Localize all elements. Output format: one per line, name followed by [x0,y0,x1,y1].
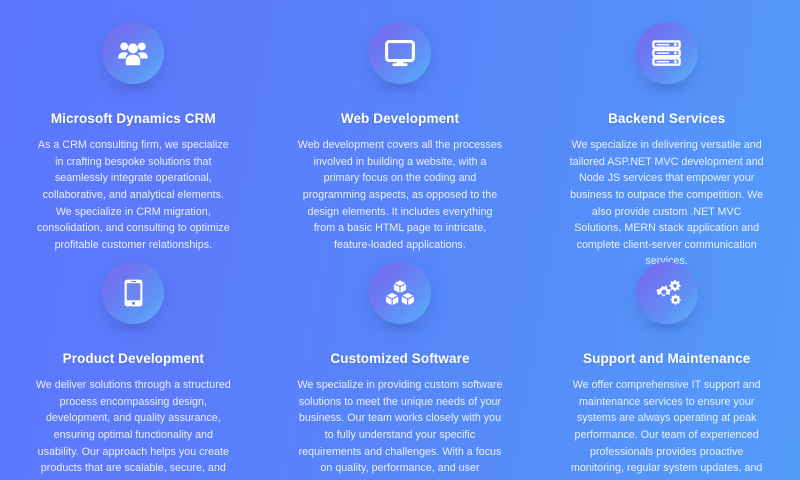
service-description: Web development covers all the processes… [297,137,502,253]
server-rack-icon [652,40,681,66]
service-card-customized-software[interactable]: Customized Software We specialize in pro… [267,240,534,480]
service-icon-badge [369,22,431,84]
service-card-product-development[interactable]: Product Development We deliver solutions… [0,240,267,480]
service-icon-badge [102,262,164,324]
service-description: We offer comprehensive IT support and ma… [569,377,765,480]
users-group-icon [118,40,148,66]
service-title: Backend Services [608,111,725,127]
service-card-backend-services[interactable]: Backend Services We specialize in delive… [533,0,800,240]
service-title: Support and Maintenance [583,351,750,367]
service-title: Microsoft Dynamics CRM [51,111,216,127]
cubes-stack-icon [385,279,415,307]
service-description: We specialize in providing custom softwa… [297,377,502,480]
service-description: We deliver solutions through a structure… [33,377,233,480]
service-title: Product Development [63,351,204,367]
service-icon-badge [369,262,431,324]
service-icon-badge [636,22,698,84]
service-card-microsoft-dynamics-crm[interactable]: Microsoft Dynamics CRM As a CRM consulti… [0,0,267,240]
service-description: As a CRM consulting firm, we specialize … [33,137,233,253]
mobile-phone-icon [124,279,143,307]
service-icon-badge [102,22,164,84]
service-card-web-development[interactable]: Web Development Web development covers a… [267,0,534,240]
gears-cogs-icon [652,279,682,307]
desktop-monitor-icon [385,40,415,67]
service-title: Web Development [341,111,459,127]
service-icon-badge [636,262,698,324]
service-card-support-and-maintenance[interactable]: Support and Maintenance We offer compreh… [533,240,800,480]
services-grid: Microsoft Dynamics CRM As a CRM consulti… [0,0,800,480]
service-title: Customized Software [330,351,469,367]
